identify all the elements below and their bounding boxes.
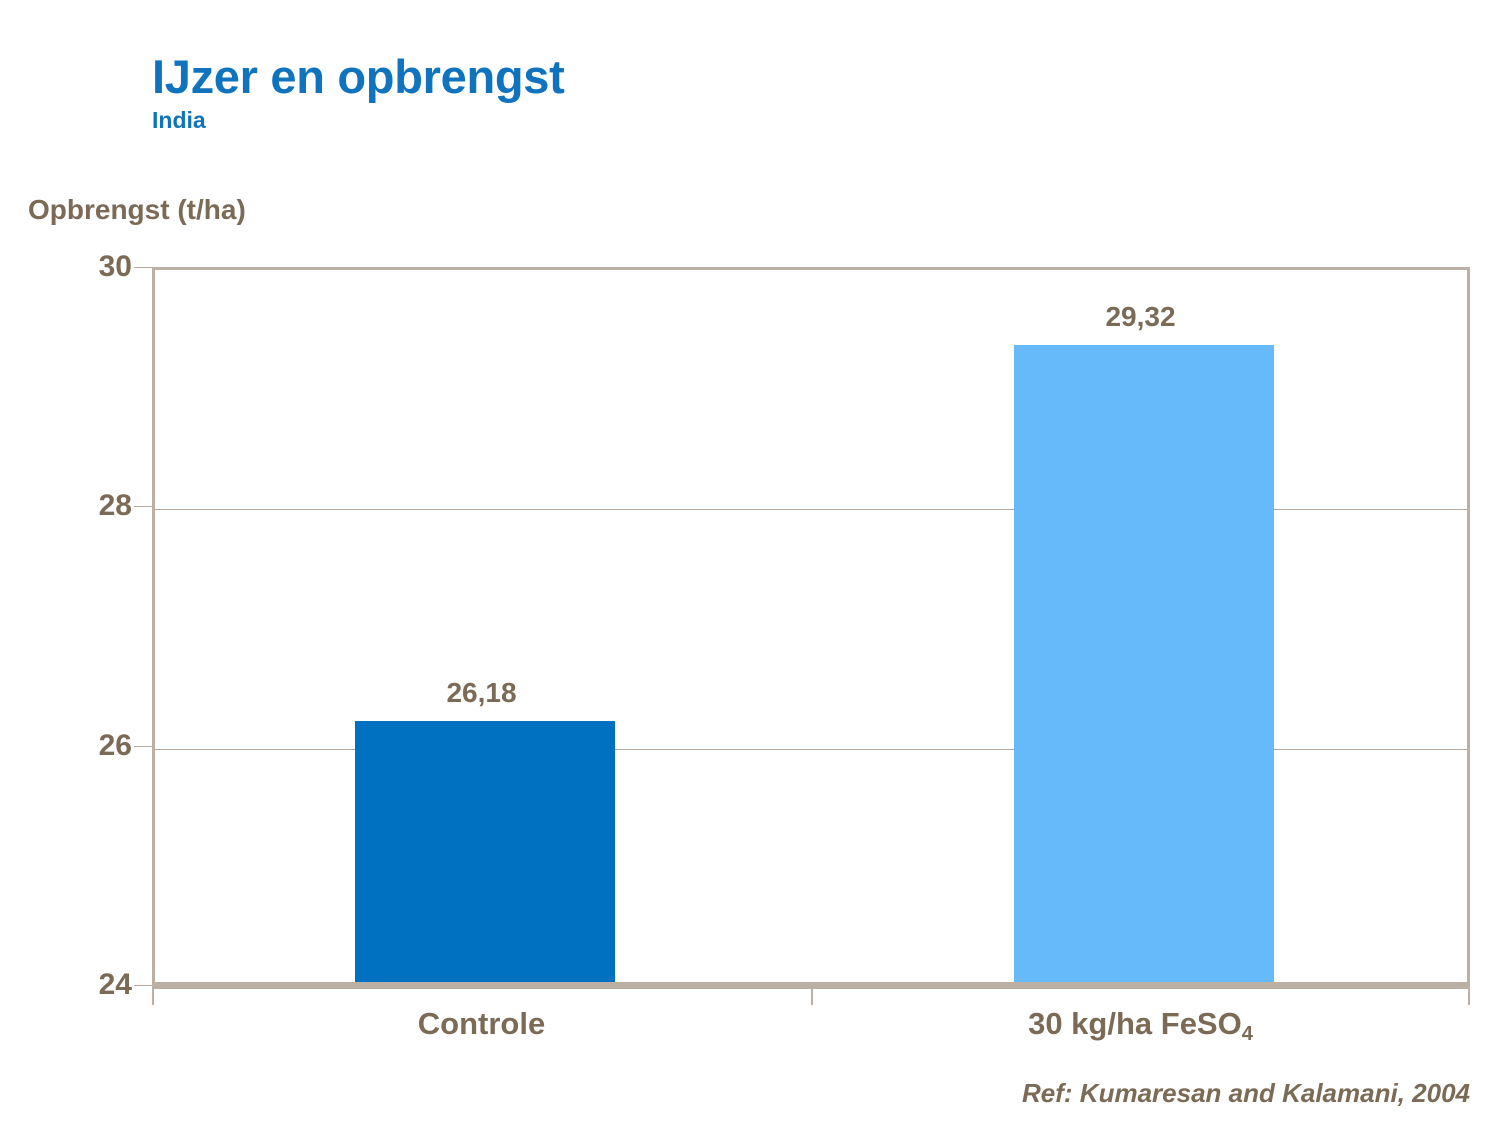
- bar-1[interactable]: [1014, 345, 1274, 982]
- reference-note: Ref: Kumaresan and Kalamani, 2004: [1022, 1078, 1470, 1109]
- y-axis-title: Opbrengst (t/ha): [28, 194, 246, 226]
- category-label: 30 kg/ha FeSO4: [1028, 1006, 1253, 1042]
- y-axis-tick-mark: [134, 985, 153, 986]
- plot-area: [152, 267, 1470, 985]
- category-label: Controle: [418, 1006, 545, 1042]
- page-subtitle: India: [152, 108, 1052, 133]
- page-title: IJzer en opbrengst: [152, 52, 1052, 102]
- y-axis-tick-mark: [134, 506, 153, 507]
- category-separator-tick: [1468, 985, 1470, 1005]
- category-separator-tick: [811, 985, 813, 1005]
- y-axis-tick-label: 30: [12, 252, 132, 282]
- y-axis-tick-label: 26: [12, 731, 132, 761]
- y-axis-tick-label: 24: [12, 970, 132, 1000]
- bar-value-label: 29,32: [1105, 301, 1175, 333]
- y-axis-tick-mark: [134, 267, 153, 268]
- category-separator-tick: [152, 985, 154, 1005]
- title-block: IJzer en opbrengst India: [152, 52, 1052, 133]
- y-axis-tick-label: 28: [12, 491, 132, 521]
- y-axis-tick-mark: [134, 746, 153, 747]
- bar-0[interactable]: [355, 721, 615, 982]
- bar-value-label: 26,18: [446, 677, 516, 709]
